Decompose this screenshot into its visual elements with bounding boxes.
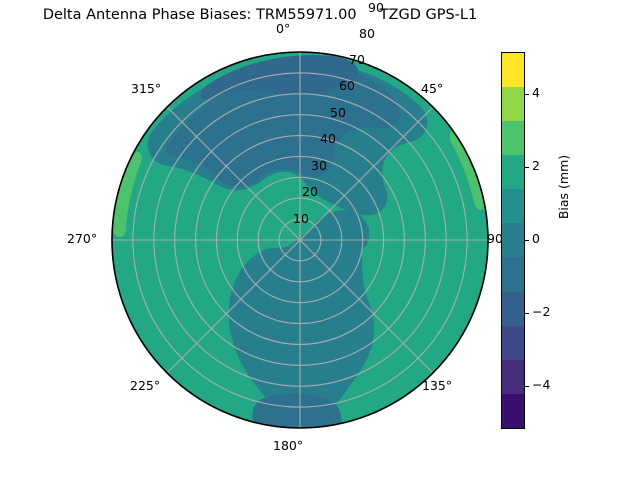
colorbar[interactable]: [501, 52, 525, 429]
radial-tick-10: 10: [293, 213, 309, 226]
colorbar-axis-label: Bias (mm): [556, 155, 571, 219]
colorbar-band-10: [502, 394, 524, 428]
colorbar-tick-neg4: [524, 386, 529, 387]
angular-tick-180: 180°: [273, 440, 303, 453]
colorbar-band-8: [502, 326, 524, 360]
radial-tick-20: 20: [302, 186, 318, 199]
colorbar-tick-neg2: [524, 313, 529, 314]
angular-tick-45: 45°: [421, 83, 443, 96]
colorbar-band-0: [502, 53, 524, 87]
angular-tick-0: 0°: [276, 23, 290, 36]
colorbar-ticklabel-neg4: −4: [532, 379, 550, 392]
colorbar-ticklabel-0: 0: [532, 233, 540, 246]
angular-tick-270: 270°: [67, 233, 97, 246]
angular-tick-315: 315°: [131, 83, 161, 96]
colorbar-band-4: [502, 189, 524, 223]
colorbar-ticklabel-4: 4: [532, 87, 540, 100]
colorbar-band-7: [502, 292, 524, 326]
colorbar-tick-2: [524, 167, 529, 168]
colorbar-band-2: [502, 121, 524, 155]
radial-tick-80: 80: [359, 28, 375, 41]
angular-tick-225: 225°: [130, 380, 160, 393]
radial-tick-60: 60: [339, 80, 355, 93]
colorbar-ticklabel-2: 2: [532, 160, 540, 173]
colorbar-band-1: [502, 87, 524, 121]
radial-tick-70: 70: [349, 54, 365, 67]
radial-tick-90: 90: [368, 2, 384, 15]
colorbar-band-9: [502, 360, 524, 394]
figure-canvas: Delta Antenna Phase Biases: TRM55971.00 …: [0, 0, 640, 480]
colorbar-tick-4: [524, 94, 529, 95]
colorbar-band-3: [502, 155, 524, 189]
colorbar-band-6: [502, 257, 524, 291]
polar-axes[interactable]: 0° 45° 90° 135° 180° 225° 270° 315° 10 2…: [110, 50, 490, 430]
angular-tick-135: 135°: [422, 380, 452, 393]
polar-grid: [112, 52, 488, 428]
colorbar-ticklabel-neg2: −2: [532, 306, 550, 319]
colorbar-tick-0: [524, 240, 529, 241]
colorbar-band-5: [502, 223, 524, 257]
polar-plot-svg: [110, 50, 490, 430]
radial-tick-40: 40: [320, 133, 336, 146]
page-title: Delta Antenna Phase Biases: TRM55971.00 …: [0, 7, 520, 23]
radial-tick-50: 50: [330, 107, 346, 120]
radial-tick-30: 30: [311, 160, 327, 173]
